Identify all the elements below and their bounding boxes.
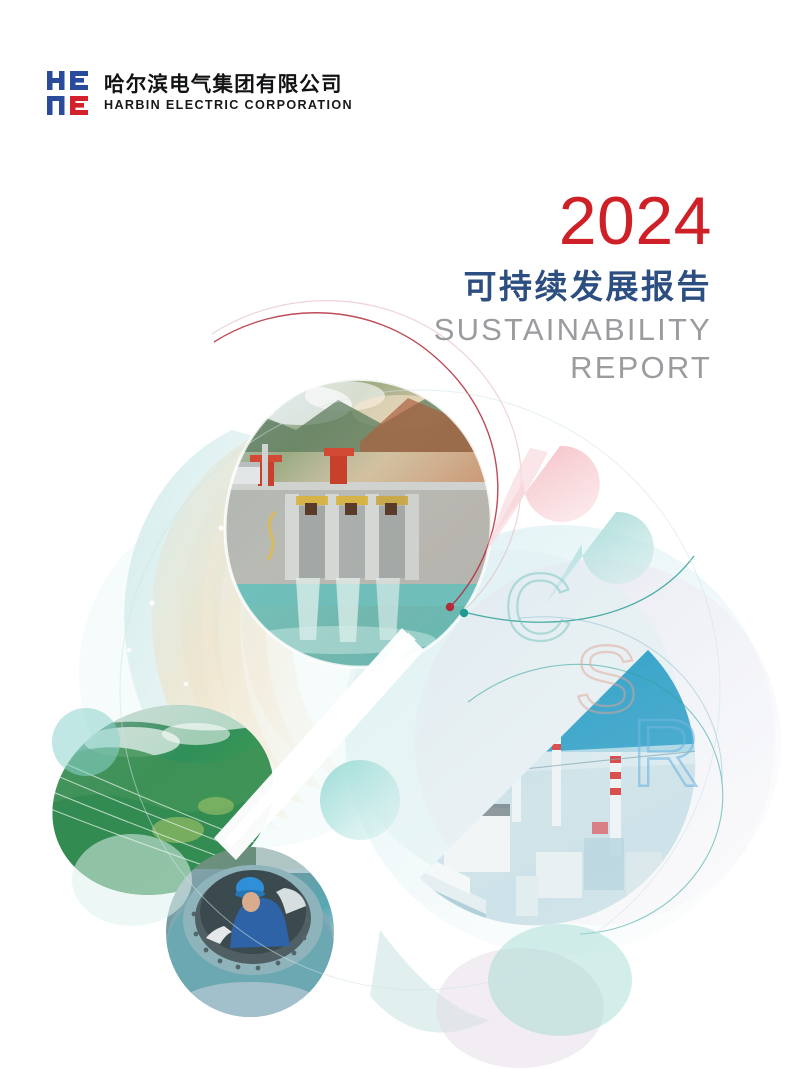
csr-watermark: C S R bbox=[0, 0, 790, 1073]
report-year: 2024 bbox=[434, 188, 712, 255]
report-title-cn: 可持续发展报告 bbox=[434, 269, 712, 306]
csr-letter-s: S bbox=[574, 626, 638, 733]
cover-title-block: 2024 可持续发展报告 SUSTAINABILITY REPORT bbox=[434, 188, 712, 387]
report-title-en-line1: SUSTAINABILITY bbox=[434, 311, 712, 349]
report-cover-page: C S R bbox=[0, 0, 790, 1073]
csr-letter-c: C bbox=[503, 554, 572, 661]
report-title-en-line2: REPORT bbox=[434, 349, 712, 387]
csr-letter-r: R bbox=[631, 700, 700, 807]
